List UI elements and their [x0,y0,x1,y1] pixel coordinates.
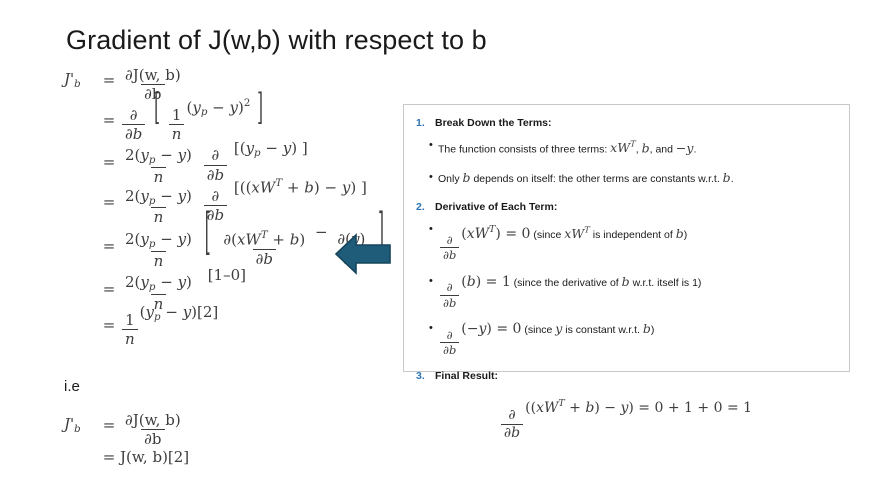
minus-7: − [165,303,178,321]
step-1-heading: Break Down the Terms: [435,115,552,131]
one-e2: 1 [502,274,511,290]
one-final-2: 1 [743,400,752,416]
db-final: ∂b [501,424,523,441]
bullet-2-prefix: Only [438,173,463,185]
partial-e1: ∂ [444,234,456,247]
x-e1: x [467,226,475,242]
ie-equals-1: = [98,416,120,434]
left-block-arrow-svg [334,230,392,278]
note-e1-c: ) [684,229,688,241]
op-d-db-e3: ∂∂b [440,329,459,357]
bullet-dot-icon: • [416,320,438,337]
minus-4: − [160,187,173,205]
ie-result: J(w, b)[2] [120,448,364,466]
equals-sign-1: = [98,71,120,89]
step-2-heading: Derivative of Each Term: [435,199,557,215]
operator-d-db-2: ∂ ∂b [122,107,145,142]
y-6b: y [178,273,186,291]
list-item: • ∂∂b(b) = 1 (since the derivative of b … [416,273,835,310]
minus-5b: − [315,223,328,241]
b-final-d: b [511,425,520,441]
y-3d: y [283,139,291,157]
equals-e2: = [486,274,498,290]
paren-close-3b: ) [291,139,297,157]
list-item: • Only b depends on itself: the other te… [416,169,835,188]
plus-final-1: + [668,400,680,416]
bullet-text: ∂∂b(b) = 1 (since the derivative of b w.… [438,273,701,310]
note-e2-b-sym: b [622,274,630,289]
b-e2: b [467,274,476,290]
term-b-only: b [463,170,471,185]
fraction-numerator: ∂J(w, b) [122,67,184,84]
bracket-open-2: [ [154,85,160,129]
ie-equation-line-1: J'b = ∂J(w, b) ∂b [64,406,364,444]
ie-fraction-dJ-db: ∂J(w, b) ∂b [122,412,184,447]
term-b: b [642,140,650,155]
bullet-text: ∂∂b(xWT) = 0 (since xWT is independent o… [438,221,687,261]
fraction-dxWb-db: ∂(xWT + b) ∂b [220,230,308,267]
minus-sign-2: − [212,98,225,116]
bullet-2-mid: depends on itself: the other terms are c… [471,173,723,185]
y-sub-6: p [149,282,156,293]
y-sub-5: p [149,239,156,250]
note-e3-b: is constant w.r.t. [562,324,643,336]
plus-final: + [569,400,581,416]
minus-3b: − [265,139,278,157]
lhs-subscript: b [74,79,81,90]
y-4b: y [178,187,186,205]
step-3: 3. Final Result: [416,368,835,384]
paren-close-f2: ) [594,400,599,416]
y-sub-7: p [154,312,161,323]
op-d-db-e1: ∂∂b [440,234,459,262]
equals-sign-4: = [98,193,120,211]
minus-e3: − [467,321,479,337]
two-coef-6: 2 [125,273,135,291]
equals-sign-5: = [98,237,120,255]
bullet-2-suffix: . [731,173,734,185]
W-e1: W [475,226,489,242]
fraction-numerator-6: 2(yp − y) [122,274,195,294]
partial-symbol: ∂ [127,107,141,124]
fraction-1-n: 1 n [169,107,185,142]
ie-lhs-subscript: b [74,424,81,435]
final-result-formula: ∂ ∂b ((xWT + b) − y) = 0 + 1 + 0 = 1 [416,398,835,441]
minus-3: − [160,146,173,164]
op-d-db-final: ∂ ∂b [501,408,523,441]
step-3-heading: Final Result: [435,368,498,384]
fraction-numerator-5: 2(yp − y) [122,231,195,251]
minus-6: − [160,273,173,291]
paren-close-4: ) [186,187,192,205]
db-e2: ∂b [440,295,459,309]
partial-final: ∂ [505,408,518,424]
step-1-number: 1. [416,115,435,131]
equation-body-7: 1 n (yp − y)[2] [120,303,394,347]
ie-equation-body-1: ∂J(w, b) ∂b [120,403,364,447]
bracket-open-5: [ [205,202,211,261]
paren-close-4c: ) [314,179,320,197]
plus-4: + [287,179,300,197]
two-coef-4: 2 [125,187,135,205]
note-e3-a: (since [524,324,555,336]
equals-final-2: = [727,400,739,416]
fraction-2ypy-n-5: 2(yp − y) n [122,231,195,269]
derivation-block: J'b = ∂J(w, b) ∂b = ∂ ∂b [ 1 n (yp − y)2… [64,62,394,342]
numerator-one: 1 [169,107,185,124]
y-sub-4: p [149,195,156,206]
partial-e2: ∂ [444,281,456,294]
bracket-close-4: ] [361,179,367,197]
plus-5: + [272,230,285,248]
ie-block: J'b = ∂J(w, b) ∂b = J(w, b)[2] [64,406,364,470]
note-e3-b-sym: b [643,321,651,336]
bracket-close-3: ] [302,139,308,157]
note-e2-a: (since the derivative of [514,277,622,289]
two-coef: 2 [125,146,135,164]
zero-e1: 0 [522,226,531,242]
arrow-shape [336,235,390,273]
b-5: b [290,230,300,248]
b-e3d: b [449,343,456,357]
ie-label: i.e [64,378,80,395]
bullet-1-mid2: , and [650,143,676,155]
equals-sign-3: = [98,153,120,171]
xW-e1n: xW [564,226,584,241]
y-5: y [140,230,148,248]
step-1-bullets: • The function consists of three terms: … [416,137,835,188]
step-2: 2. Derivative of Each Term: [416,199,835,215]
minus-final: − [604,400,616,416]
b-e2d: b [449,296,456,310]
numerator-one-7: 1 [122,312,138,329]
equation-line-3: = 2(yp − y) n ∂ ∂b [(yp − y) ] [64,142,394,182]
paren-close-6: ) [186,273,192,291]
denominator-db-5: ∂b [253,249,276,267]
ie-equals-2: = [98,448,120,466]
y-6: y [140,273,148,291]
equation-line-1: J'b = ∂J(w, b) ∂b [64,62,394,98]
equation-body-2: ∂ ∂b [ 1 n (yp − y)2 ] [120,98,394,142]
ie-lhs-symbol: J' [64,415,74,433]
y-symbol-3: y [140,146,148,164]
term-minus-y: −y [676,140,694,155]
partial-5n: ∂ [223,230,231,248]
minus-4b: − [325,179,338,197]
bracket-one-minus-zero: [1–0] [208,266,246,284]
W-4: W [260,179,275,197]
equation-line-7: = 1 n (yp − y)[2] [64,308,394,342]
note-e1-xW: xWT [564,226,590,241]
minus-5: − [160,230,173,248]
b-4d: b [214,206,224,224]
equation-line-2: = ∂ ∂b [ 1 n (yp − y)2 ] [64,98,394,142]
op-d-db-e2: ∂∂b [440,281,459,309]
y-subscript-p: p [201,107,208,118]
partial-e3: ∂ [444,329,456,342]
fraction-1-n-7: 1 n [122,312,138,347]
note-e2-b: w.r.t. itself is 1) [630,277,702,289]
bracket-two-7: [2] [197,303,218,321]
ie-equation-line-2: = J(w, b)[2] [64,444,364,470]
bullet-dot-icon: • [416,273,438,290]
y-3c: y [246,139,254,157]
step-3-number: 3. [416,368,435,384]
equation-body-4: 2(yp − y) n ∂ ∂b [((xWT + b) − y) ] [120,178,394,225]
equals-final-1: = [638,400,650,416]
W-sup-T-final: T [558,398,564,409]
b-e1d: b [449,248,456,262]
step-2-number: 2. [416,199,435,215]
fraction-2ypy-n-4: 2(yp − y) n [122,188,195,226]
y-5b: y [178,230,186,248]
paren-close-4b: ) [350,179,356,197]
ie-fraction-numerator: ∂J(w, b) [122,412,184,429]
fraction-numerator-3: 2(yp − y) [122,147,195,167]
y-4: y [140,187,148,205]
zero-final-1: 0 [654,400,663,416]
numerator-dxWb: ∂(xWT + b) [220,230,308,249]
partial-4: ∂ [208,188,222,205]
exponent-two: 2 [244,98,250,109]
b-final: b [585,400,594,416]
note-e1-b: is independent of [590,229,676,241]
paren-close-e3: ) [486,321,491,337]
db-e3: ∂b [440,342,459,356]
y-symbol-2: y [229,98,237,116]
bullet-dot-icon: • [416,221,438,238]
bullet-1-suffix: . [693,143,696,155]
note-e1-b-sym: b [676,226,684,241]
two-coef-5: 2 [125,230,135,248]
x-final: x [536,400,544,416]
b-4: b [304,179,314,197]
bullet-dot-icon: • [416,137,438,154]
step-1: 1. Break Down the Terms: [416,115,835,131]
bracket-close-2: ] [257,85,263,129]
paren-close-3: ) [186,146,192,164]
partial-symbol-3: ∂ [208,147,222,164]
equals-sign-7: = [98,316,120,334]
y-7: y [146,303,154,321]
W-5: W [245,230,260,248]
W-superscript-T-5: T [261,230,268,241]
paren-close-5: ) [186,230,192,248]
equation-lhs: J'b [64,70,98,90]
ie-fraction-denominator: ∂b [141,429,164,447]
derivative-formula-3: ∂∂b(−y) = 0 [438,321,521,337]
bullet-text: The function consists of three terms: xW… [438,137,696,158]
paren-close-f1: ) [628,400,633,416]
y-7b: y [183,303,191,321]
fraction-numerator-4: 2(yp − y) [122,188,195,208]
page-title: Gradient of J(w,b) with respect to b [66,25,487,56]
equals-e1: = [505,226,517,242]
db-e1: ∂b [440,247,459,261]
explanation-box: 1. Break Down the Terms: • The function … [403,104,850,372]
y-sub-p-3: p [149,155,156,166]
bullet-1-prefix: The function consists of three terms: [438,143,610,155]
derivative-formula-2: ∂∂b(b) = 1 [438,274,511,290]
equation-line-4: = 2(yp − y) n ∂ ∂b [((xWT + b) − y) ] [64,182,394,222]
plus-final-2: + [697,400,709,416]
equals-sign-6: = [98,280,120,298]
ie-lhs: J'b [64,415,98,435]
denominator-n-7: n [122,329,138,347]
bullet-dot-icon: • [416,169,438,186]
y-symbol-3b: y [178,146,186,164]
note-e3-c: ) [651,324,655,336]
one-final-1: 1 [684,400,693,416]
bullet-text: ∂∂b(−y) = 0 (since y is constant w.r.t. … [438,320,654,357]
left-block-arrow-icon [334,230,392,278]
paren-close-5n: ) [299,230,305,248]
term-xW: xWT [610,140,636,155]
W-superscript-T-4: T [275,178,282,189]
derivative-formula-1: ∂∂b(xWT) = 0 [438,226,530,242]
zero-final-2: 0 [714,400,723,416]
bullet-text: Only b depends on itself: the other term… [438,169,734,188]
list-item: • ∂∂b(xWT) = 0 (since xWT is independent… [416,221,835,261]
list-item: • The function consists of three terms: … [416,137,835,158]
x-4: x [251,179,259,197]
W-final: W [544,400,558,416]
paren-close-e2: ) [476,274,481,290]
equals-sign-2: = [98,111,120,129]
y-symbol: y [192,98,200,116]
paren-close-e1: ) [495,226,500,242]
list-item: • ∂∂b(−y) = 0 (since y is constant w.r.t… [416,320,835,357]
equals-e3: = [496,321,508,337]
note-e1-a: (since [533,229,564,241]
y-sub-3c: p [254,147,261,158]
xW-symbol: xW [610,140,630,155]
lhs-symbol: J' [64,70,74,88]
step-2-bullets: • ∂∂b(xWT) = 0 (since xWT is independent… [416,221,835,356]
term-b-wrt: b [723,170,731,185]
zero-e3: 0 [513,321,522,337]
